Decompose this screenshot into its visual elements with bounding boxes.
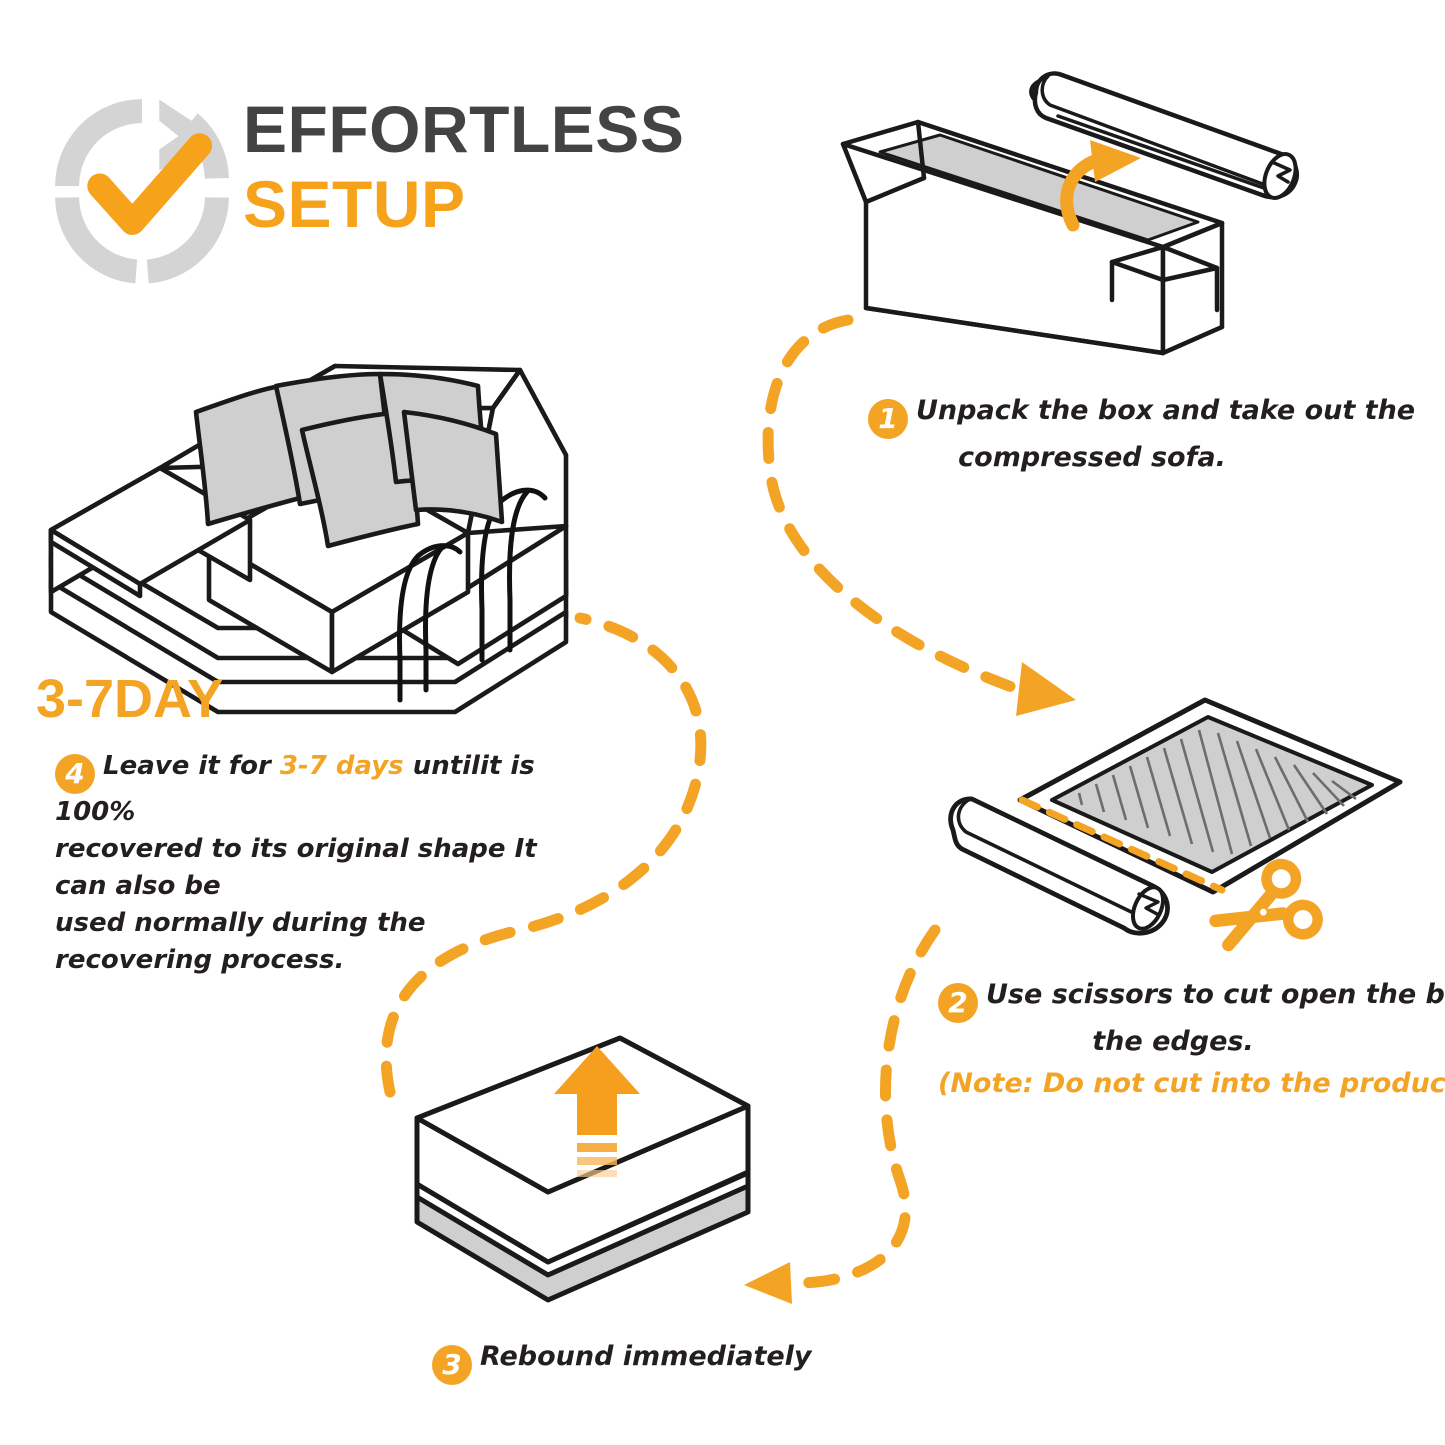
title-setup: SETUP xyxy=(243,171,803,238)
step-1-badge: 1 xyxy=(868,399,908,439)
step-4-line-1a: Leave it for xyxy=(103,751,280,781)
refresh-check-icon xyxy=(46,88,238,284)
step-3-line-1: Rebound immediately xyxy=(480,1341,812,1372)
step-4-line-2: recovered to its original shape It can a… xyxy=(55,831,555,905)
page-title: EFFORTLESS SETUP xyxy=(243,96,803,239)
title-effortless: EFFORTLESS xyxy=(243,96,803,163)
step-4-badge: 4 xyxy=(55,754,95,794)
infographic-canvas: EFFORTLESS SETUP 1Unpack the box and tak… xyxy=(0,0,1445,1445)
step-2-note: (Note: Do not cut into the products) xyxy=(938,1065,1408,1103)
step-1-text: 1Unpack the box and take out the compres… xyxy=(868,392,1316,477)
step-2-text: 2Use scissors to cut open the bag along … xyxy=(938,976,1408,1104)
step-4-text: 4Leave it for 3-7 days untilit is 100% r… xyxy=(55,748,555,979)
step-3-text: 3Rebound immediately xyxy=(432,1338,762,1385)
step-1-line-1: Unpack the box and take out the xyxy=(916,395,1415,426)
step-4-highlight: 3-7 days xyxy=(280,751,404,781)
step-3-badge: 3 xyxy=(432,1345,472,1385)
day-range-label: 3-7DAY xyxy=(36,668,223,730)
arrow-step1-to-step2 xyxy=(768,320,1076,716)
step-2-line-2: the edges. xyxy=(938,1023,1408,1061)
arrow-step2-to-step3 xyxy=(744,930,935,1304)
step-1-line-2: compressed sofa. xyxy=(868,439,1316,477)
step-4-line-3: used normally during the recovering proc… xyxy=(55,905,555,979)
step-2-badge: 2 xyxy=(938,983,978,1023)
step-2-line-1: Use scissors to cut open the bag along xyxy=(986,979,1445,1010)
